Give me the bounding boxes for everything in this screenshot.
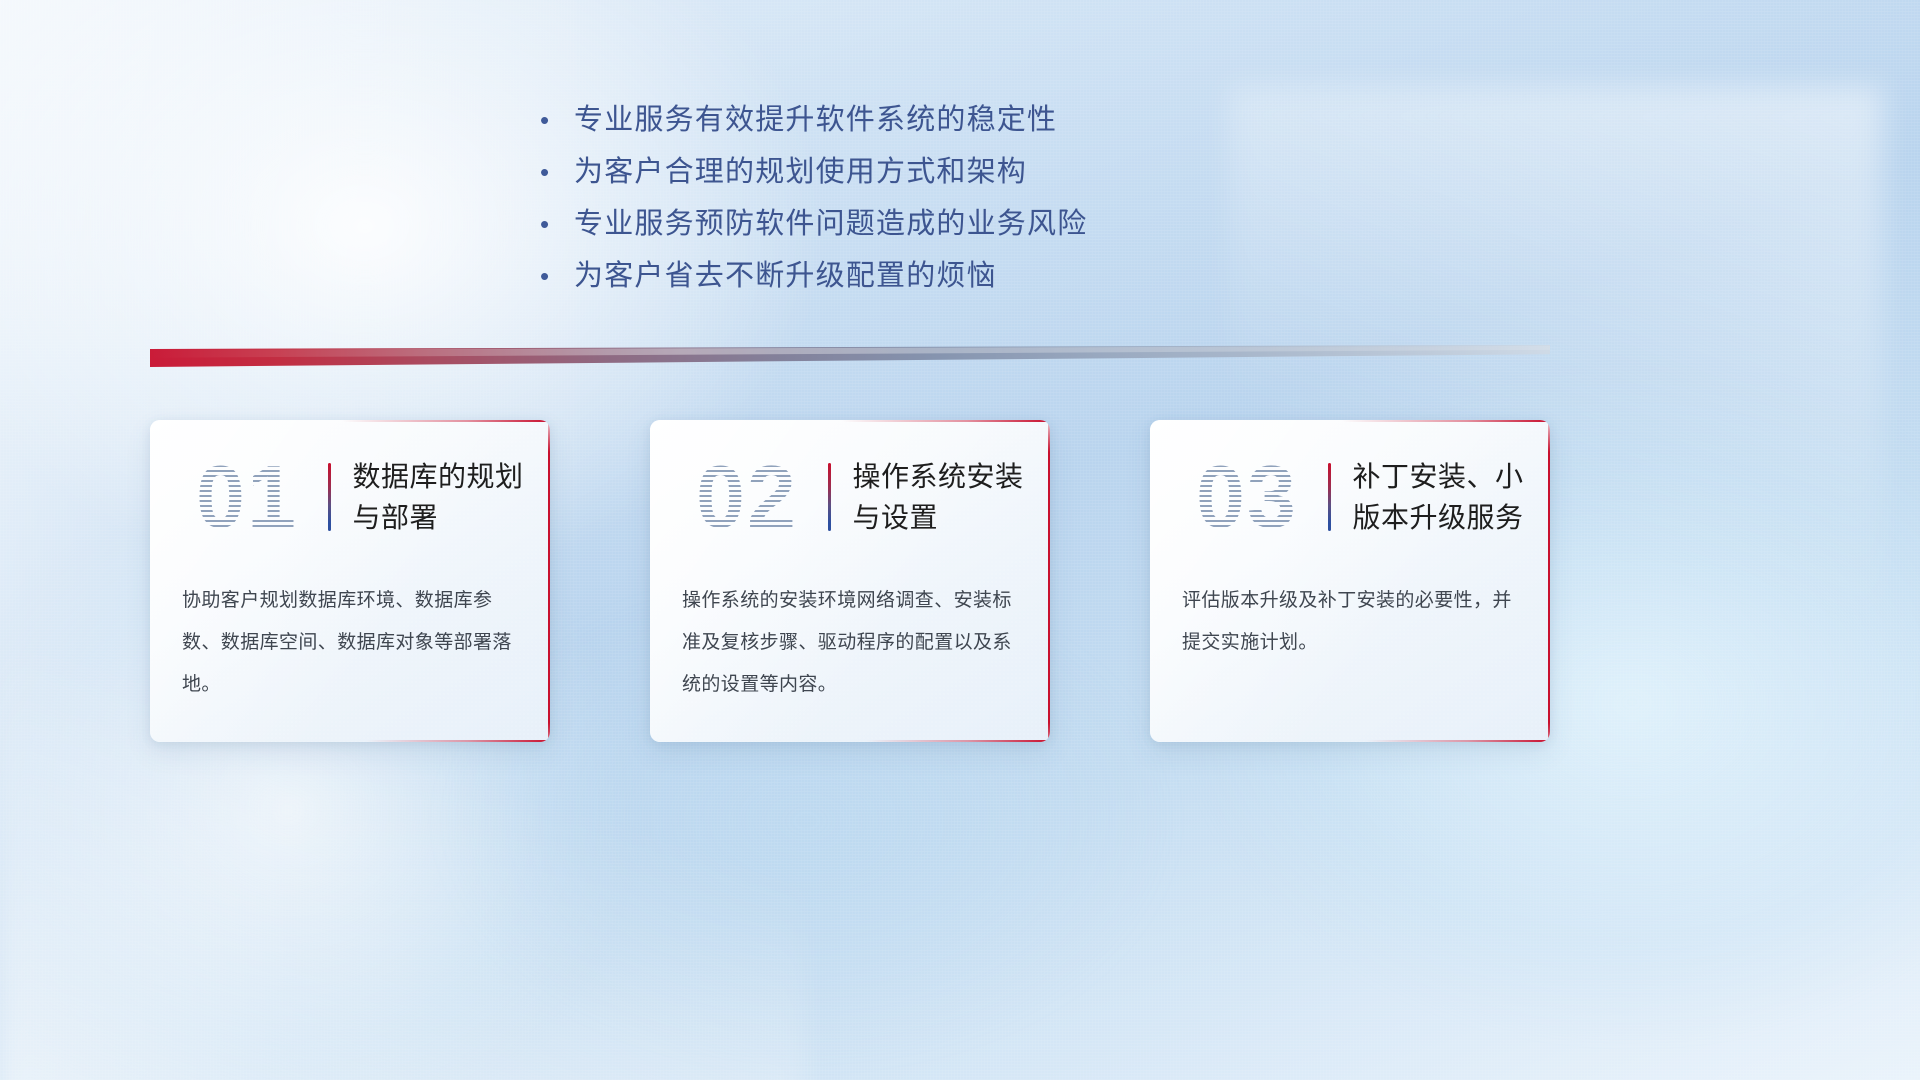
card-accent-bottom-edge [1366,740,1550,742]
bullet-dot-icon: • [540,250,574,302]
card-header: 01 数据库的规划 与部署 [150,436,550,558]
benefits-bullet-list: • 专业服务有效提升软件系统的稳定性 • 为客户合理的规划使用方式和架构 • 专… [540,94,1380,302]
bullet-text: 为客户合理的规划使用方式和架构 [574,146,1027,198]
card-accent-top-edge [1342,420,1550,422]
card-accent-top-edge [842,420,1050,422]
card-accent-top-edge [342,420,550,422]
card-header: 03 补丁安装、小 版本升级服务 [1150,436,1550,558]
bullet-item: • 专业服务有效提升软件系统的稳定性 [540,94,1380,146]
service-card[interactable]: 03 补丁安装、小 版本升级服务 评估版本升级及补丁安装的必要性，并提交实施计划… [1150,420,1550,742]
bullet-dot-icon: • [540,146,574,198]
card-number-watermark: 01 [172,445,322,549]
card-title-divider-rule [328,463,331,531]
card-body-text: 评估版本升级及补丁安装的必要性，并提交实施计划。 [1182,580,1522,664]
bullet-item: • 为客户合理的规划使用方式和架构 [540,146,1380,198]
service-card-list: 01 数据库的规划 与部署 协助客户规划数据库环境、数据库参数、数据库空间、数据… [150,420,1550,742]
bullet-item: • 专业服务预防软件问题造成的业务风险 [540,198,1380,250]
card-number-watermark: 02 [672,445,822,549]
card-title-divider-rule [828,463,831,531]
card-header: 02 操作系统安装 与设置 [650,436,1050,558]
card-body-text: 操作系统的安装环境网络调查、安装标准及复核步骤、驱动程序的配置以及系统的设置等内… [682,580,1022,706]
bullet-text: 为客户省去不断升级配置的烦恼 [574,250,997,302]
bullet-dot-icon: • [540,94,574,146]
card-title-line: 与设置 [853,497,1024,538]
card-title-line: 版本升级服务 [1353,497,1524,538]
service-card[interactable]: 01 数据库的规划 与部署 协助客户规划数据库环境、数据库参数、数据库空间、数据… [150,420,550,742]
bullet-item: • 为客户省去不断升级配置的烦恼 [540,250,1380,302]
bullet-text: 专业服务有效提升软件系统的稳定性 [574,94,1057,146]
service-card[interactable]: 02 操作系统安装 与设置 操作系统的安装环境网络调查、安装标准及复核步骤、驱动… [650,420,1050,742]
card-accent-bottom-edge [866,740,1050,742]
card-title: 数据库的规划 与部署 [353,456,524,538]
card-title-divider-rule [1328,463,1331,531]
bullet-dot-icon: • [540,198,574,250]
card-title-line: 与部署 [353,497,524,538]
card-title-line: 数据库的规划 [353,456,524,497]
card-title: 操作系统安装 与设置 [853,456,1024,538]
card-number-watermark: 03 [1172,445,1322,549]
card-body-text: 协助客户规划数据库环境、数据库参数、数据库空间、数据库对象等部署落地。 [182,580,522,706]
card-title-line: 补丁安装、小 [1353,456,1524,497]
card-title-line: 操作系统安装 [853,456,1024,497]
card-accent-bottom-edge [366,740,550,742]
card-title: 补丁安装、小 版本升级服务 [1353,456,1524,538]
bullet-text: 专业服务预防软件问题造成的业务风险 [574,198,1087,250]
section-divider [150,345,1550,367]
